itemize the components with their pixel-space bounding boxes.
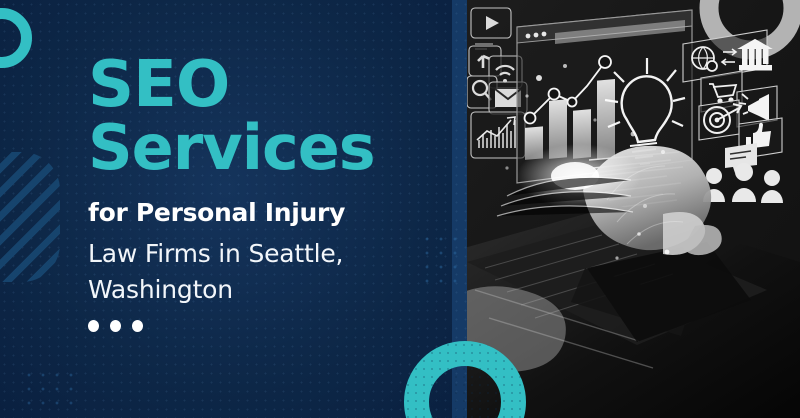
dots-indicator xyxy=(88,320,438,332)
subtitle-bold: for Personal Injury xyxy=(88,198,438,228)
seo-services-banner: SEO Services for Personal Injury Law Fir… xyxy=(0,0,800,418)
dot-3 xyxy=(132,320,143,332)
ring-top-left-icon xyxy=(0,8,32,68)
hero-photo xyxy=(467,0,800,418)
headline-block: SEO Services for Personal Injury Law Fir… xyxy=(88,56,438,332)
subtitle-light: Law Firms in Seattle, Washington xyxy=(88,236,348,309)
headline-line-2: Services xyxy=(88,119,438,176)
diagonal-stripes-icon xyxy=(0,152,60,282)
dot-grid-bottom-left-icon xyxy=(22,368,80,414)
photo-holographic-overlay xyxy=(467,0,800,418)
target-icon xyxy=(699,100,741,140)
dot-1 xyxy=(88,320,99,332)
headline-line-1: SEO xyxy=(88,56,438,115)
dot-2 xyxy=(110,320,121,332)
